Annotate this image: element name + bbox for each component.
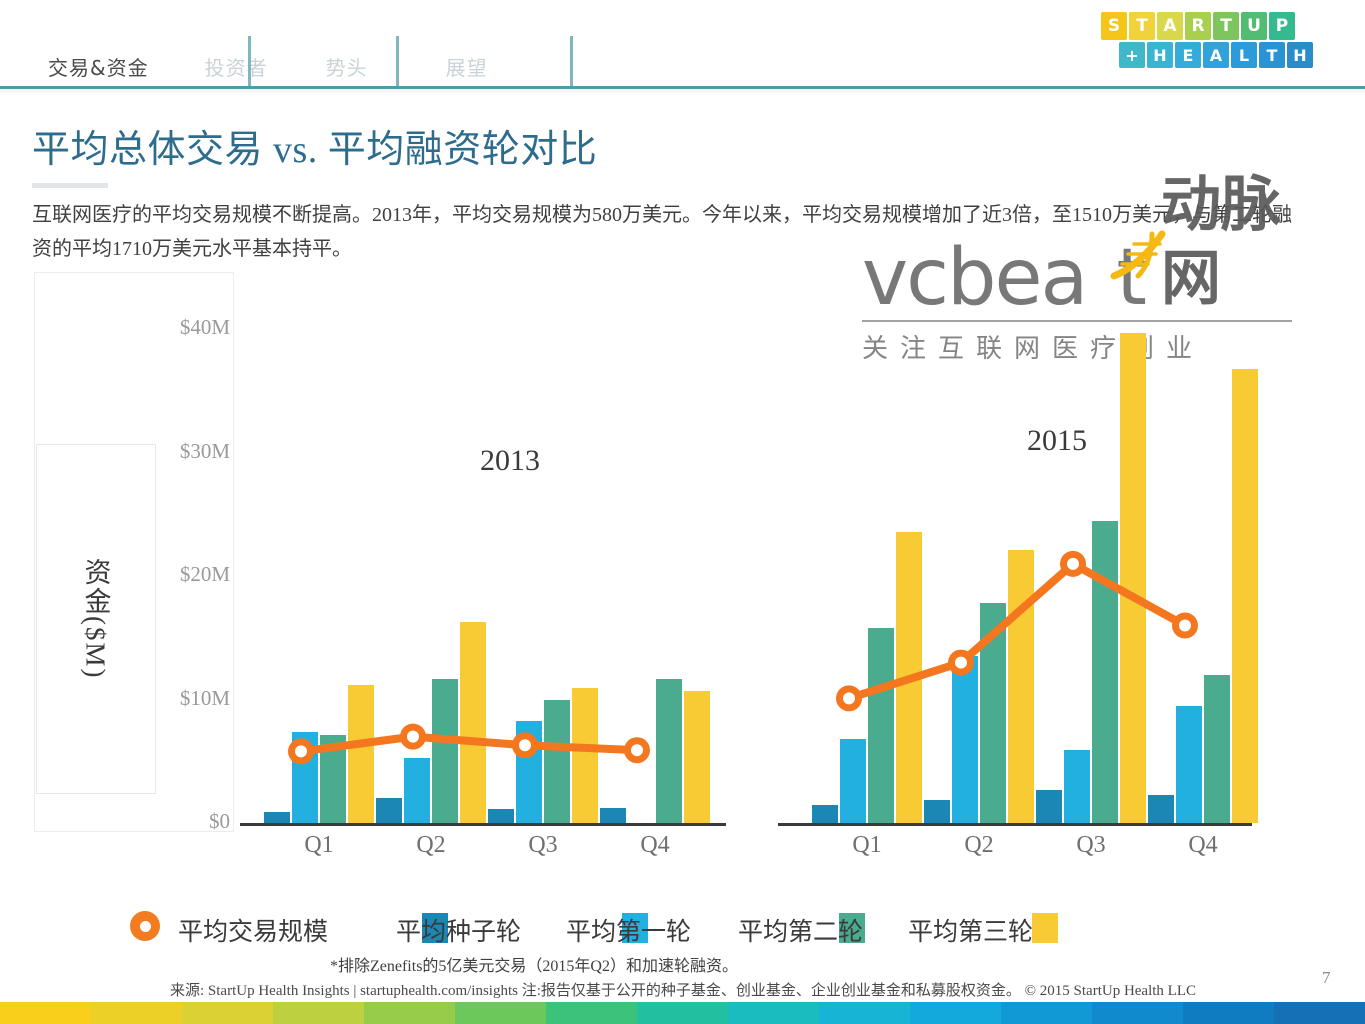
nav-tab-momentum[interactable]: 势头 (326, 52, 368, 81)
chart-legend: 平均交易规模 平均种子轮 平均第一轮 平均第二轮 平均第三轮 (130, 905, 1230, 947)
line-marker-inner-0 (295, 745, 307, 757)
legend-label-seed: 平均种子轮 (396, 912, 521, 948)
strip-block-1 (91, 1002, 182, 1024)
logo-tile-t-4: T (1213, 12, 1239, 40)
nav-bottom-rule-shadow (0, 89, 1365, 93)
strip-block-7 (637, 1002, 728, 1024)
logo-tile-e-2: E (1175, 42, 1201, 68)
logo-tile-p-6: P (1269, 12, 1295, 40)
logo-row-startup: STARTUP (1101, 12, 1319, 40)
legend-marker-avg-deal-size (130, 911, 160, 941)
logo-tile-a-3: A (1203, 42, 1229, 68)
line-marker-inner-4 (843, 692, 855, 704)
strip-block-0 (0, 1002, 91, 1024)
x-tick-label-5: Q2 (939, 832, 1019, 859)
line-segment-0 (301, 737, 637, 752)
page-title: 平均总体交易 vs. 平均融资轮对比 (32, 118, 597, 173)
logo-tile-t-5: T (1259, 42, 1285, 68)
nav-separator-2 (396, 36, 399, 88)
startup-health-logo: STARTUP +HEALTH (1101, 12, 1319, 68)
line-marker-inner-6 (1067, 558, 1079, 570)
logo-tile-r-3: R (1185, 12, 1211, 40)
line-marker-inner-5 (955, 657, 967, 669)
strip-block-6 (546, 1002, 637, 1024)
line-marker-inner-3 (631, 744, 643, 756)
legend-label-series-c: 平均第三轮 (908, 912, 1033, 948)
logo-row-health: +HEALTH (1119, 42, 1319, 68)
logo-tile-s-0: S (1101, 12, 1127, 40)
y-axis-label-text: 资金($M) (77, 558, 116, 680)
bottom-color-strip (0, 1002, 1365, 1024)
line-marker-inner-1 (407, 731, 419, 743)
logo-tile-a-2: A (1157, 12, 1183, 40)
x-tick-label-1: Q2 (391, 832, 471, 859)
y-tick-0: $0 (152, 809, 230, 834)
strip-block-3 (273, 1002, 364, 1024)
strip-block-2 (182, 1002, 273, 1024)
strip-block-12 (1092, 1002, 1183, 1024)
y-axis-ticks: $0$10M$20M$30M$40M (150, 262, 230, 832)
plot-area: Q1Q2Q3Q4Q1Q2Q3Q4 2013 2015 (240, 262, 1252, 826)
nav-tab-outlook[interactable]: 展望 (446, 52, 488, 81)
x-tick-label-7: Q4 (1163, 832, 1243, 859)
legend-swatch-series-c (1032, 913, 1058, 943)
chart-container: 资金($M) $0$10M$20M$30M$40M Q1Q2Q3Q4Q1Q2Q3… (0, 262, 1320, 862)
strip-block-4 (364, 1002, 455, 1024)
legend-label-avg-deal-size: 平均交易规模 (178, 912, 328, 948)
strip-block-9 (819, 1002, 910, 1024)
page-number: 7 (1322, 968, 1331, 988)
strip-block-5 (455, 1002, 546, 1024)
x-tick-label-2: Q3 (503, 832, 583, 859)
line-marker-inner-7 (1179, 620, 1191, 632)
strip-block-8 (728, 1002, 819, 1024)
logo-tile-plus-0: + (1119, 42, 1145, 68)
y-tick-40M: $40M (152, 315, 230, 340)
x-tick-label-4: Q1 (827, 832, 907, 859)
nav-tabs: 交易&资金 投资者 势头 展望 (48, 52, 488, 86)
y-axis-label: 资金($M) (36, 444, 156, 794)
title-underline (32, 183, 108, 188)
avg-deal-size-line (240, 262, 1252, 826)
strip-block-11 (1001, 1002, 1092, 1024)
nav-tab-deals-funding[interactable]: 交易&资金 (48, 52, 149, 81)
logo-tile-t-1: T (1129, 12, 1155, 40)
legend-label-series-a: 平均第一轮 (566, 912, 691, 948)
chart-footnote: *排除Zenefits的5亿美元交易（2015年Q2）和加速轮融资。 (330, 952, 738, 976)
logo-tile-h-1: H (1147, 42, 1173, 68)
year-label-2013: 2013 (480, 444, 540, 478)
legend-label-series-b: 平均第二轮 (738, 912, 863, 948)
x-tick-label-6: Q3 (1051, 832, 1131, 859)
y-tick-30M: $30M (152, 439, 230, 464)
strip-block-14 (1274, 1002, 1365, 1024)
x-tick-label-0: Q1 (279, 832, 359, 859)
slide-root: 交易&资金 投资者 势头 展望 STARTUP +HEALTH 平均总体交易 v… (0, 0, 1365, 1024)
x-tick-label-3: Q4 (615, 832, 695, 859)
line-segment-4 (849, 564, 1185, 699)
source-line: 来源: StartUp Health Insights | startuphea… (170, 979, 1196, 1000)
year-label-2015: 2015 (1027, 424, 1087, 458)
nav-tab-investors[interactable]: 投资者 (205, 52, 268, 81)
strip-block-13 (1183, 1002, 1274, 1024)
line-marker-inner-2 (519, 739, 531, 751)
nav-separator-3 (570, 36, 573, 88)
logo-tile-l-4: L (1231, 42, 1257, 68)
logo-tile-h-6: H (1287, 42, 1313, 68)
nav-separator-1 (248, 36, 251, 88)
logo-tile-u-5: U (1241, 12, 1267, 40)
y-tick-10M: $10M (152, 686, 230, 711)
strip-block-10 (910, 1002, 1001, 1024)
y-tick-20M: $20M (152, 562, 230, 587)
